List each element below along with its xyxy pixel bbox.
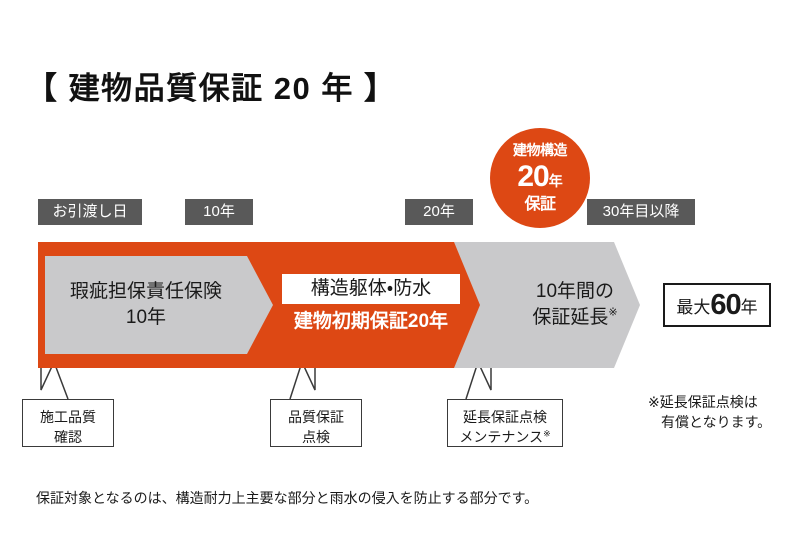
extension-fee-note-line2: 有償となります。 — [648, 412, 771, 432]
warranty-extension-mark: ※ — [608, 307, 617, 319]
milestone-tag-year10: 10年 — [185, 199, 253, 225]
warranty-timeline-band: 瑕疵担保責任保険 10年 構造躯体・防水 建物初期保証20年 10年間の 保証延… — [38, 242, 640, 368]
footer-note: 保証対象となるのは、構造耐力上主要な部分と雨水の侵入を防止する部分です。 — [36, 488, 538, 508]
extension-fee-note: ※延長保証点検は 有償となります。 — [648, 392, 771, 433]
max-warranty-number: 60 — [710, 289, 740, 322]
callout-extended-warranty-check: 延長保証点検 メンテナンス※ — [447, 399, 563, 447]
structure-warranty-badge: 建物構造 20年 保証 — [490, 128, 590, 228]
defect-liability-chevron: 瑕疵担保責任保険 10年 — [45, 256, 273, 354]
extension-fee-note-line1: ※延長保証点検は — [648, 394, 758, 410]
badge-unit: 年 — [549, 173, 563, 189]
callout-quality-warranty-check-line2: 点検 — [271, 427, 361, 447]
milestone-tag-year20: 20年 — [405, 199, 473, 225]
badge-top-label: 建物構造 — [490, 128, 590, 157]
warranty-extension-line2-wrap: 保証延長※ — [532, 305, 617, 331]
callout-extended-warranty-check-line2-wrap: メンテナンス※ — [448, 427, 562, 447]
warranty-extension-line2: 保証延長 — [532, 307, 608, 328]
defect-liability-line1: 瑕疵担保責任保険 — [70, 279, 222, 305]
callout-extended-warranty-check-mark: ※ — [543, 429, 551, 439]
badge-bottom-label: 保証 — [490, 192, 590, 213]
callout-quality-warranty-check-line1: 品質保証 — [271, 407, 361, 427]
callout-construction-quality-line2: 確認 — [23, 427, 113, 447]
callout-extended-warranty-check-line1: 延長保証点検 — [448, 407, 562, 427]
defect-liability-line2: 10年 — [126, 305, 166, 331]
milestone-tag-handover: お引渡し日 — [38, 199, 142, 225]
milestone-tag-year30: 30年目以降 — [587, 199, 695, 225]
badge-years: 20年 — [490, 157, 590, 192]
max-warranty-prefix: 最大 — [676, 293, 710, 318]
defect-liability-text: 瑕疵担保責任保険 10年 — [45, 256, 247, 354]
callout-construction-quality-line1: 施工品質 — [23, 407, 113, 427]
callout-extended-warranty-check-line2: メンテナンス — [459, 429, 543, 445]
initial-warranty-label: 建物初期保証20年 — [282, 311, 460, 334]
badge-number: 20 — [517, 160, 548, 193]
callout-construction-quality: 施工品質 確認 — [22, 399, 114, 447]
warranty-extension-line1: 10年間の — [536, 279, 614, 305]
max-warranty-unit: 年 — [741, 293, 758, 318]
max-warranty-box: 最大60年 — [663, 283, 771, 327]
warranty-extension-text: 10年間の 保証延長※ — [500, 256, 650, 354]
page-title: 【 建物品質保証 20 年 】 — [26, 63, 396, 108]
structure-waterproof-box: 構造躯体・防水 — [282, 274, 460, 304]
callout-quality-warranty-check: 品質保証 点検 — [270, 399, 362, 447]
diagram-canvas: 【 建物品質保証 20 年 】 お引渡し日 10年 20年 30年目以降 建物構… — [0, 0, 800, 558]
